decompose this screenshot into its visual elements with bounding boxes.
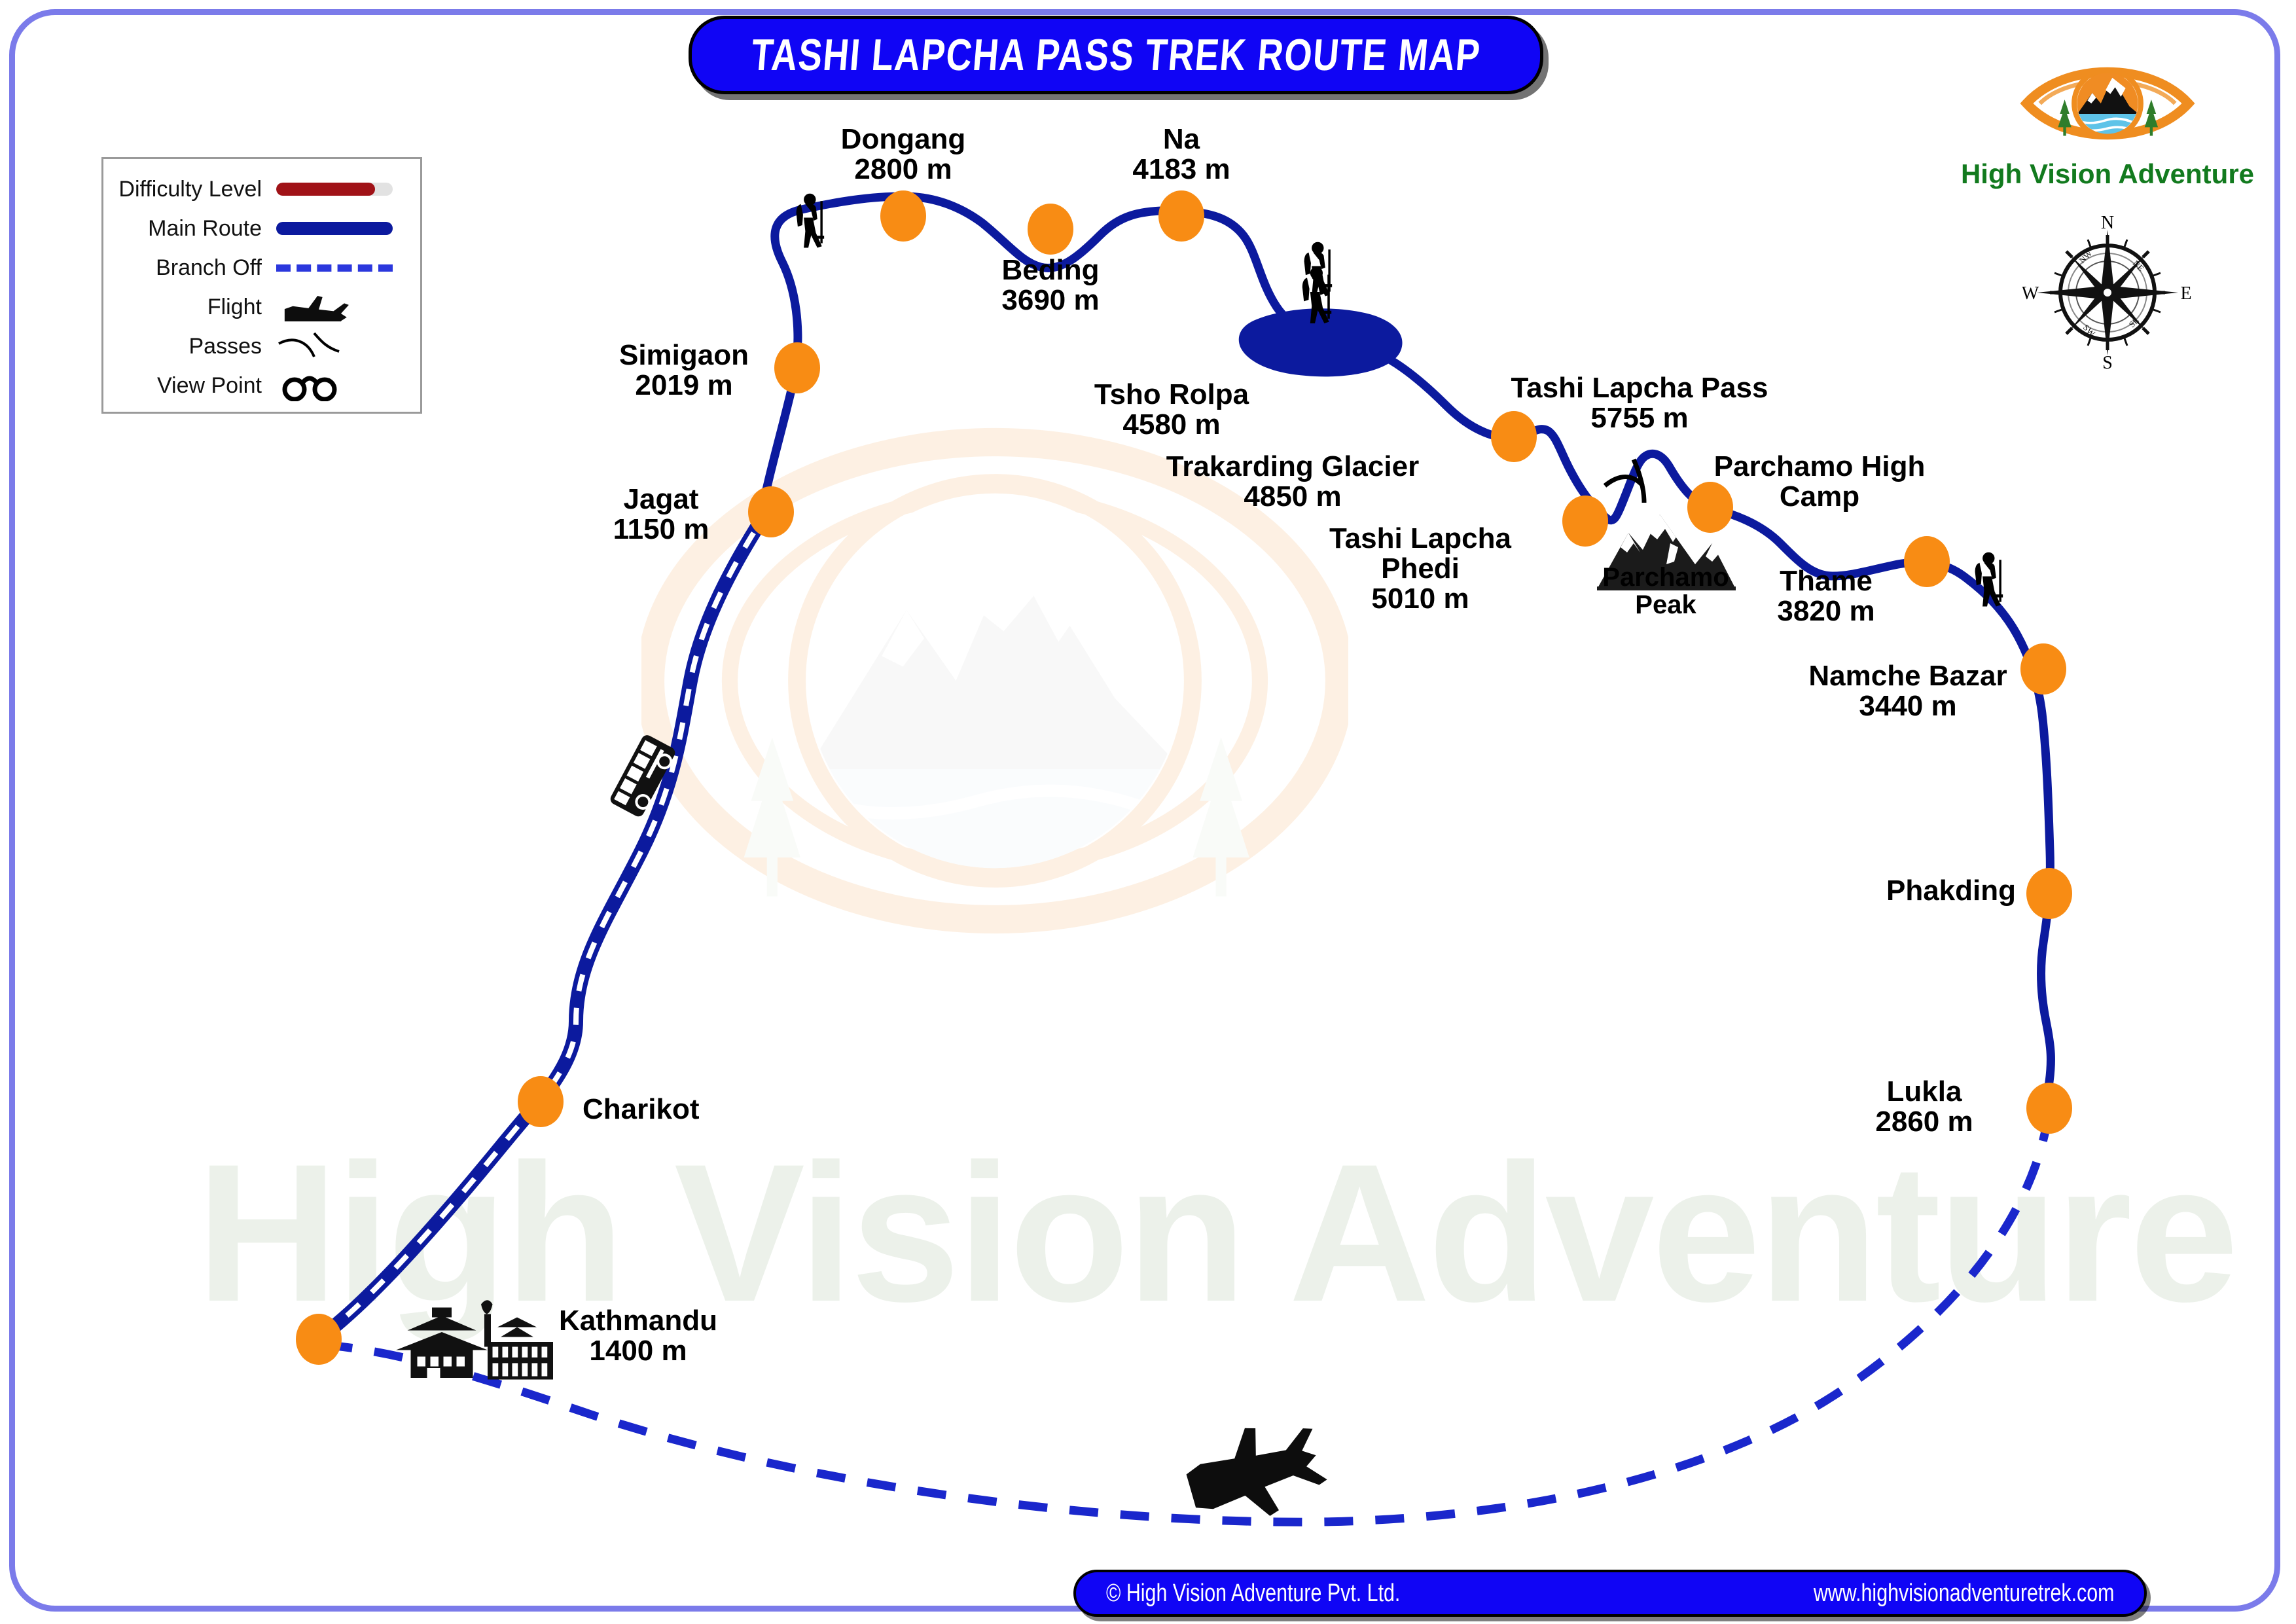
label-na: Na 4183 m bbox=[1073, 124, 1289, 185]
legend-item-flight: Flight bbox=[111, 287, 404, 327]
legend-item-view-point: View Point bbox=[111, 366, 404, 405]
node-lukla bbox=[2026, 1083, 2072, 1134]
road-route-kathmandu-jagat bbox=[321, 524, 759, 1337]
temple-icon bbox=[396, 1300, 553, 1379]
airplane-icon bbox=[276, 292, 404, 322]
label-lukla: Lukla 2860 m bbox=[1833, 1077, 2016, 1137]
legend-label: View Point bbox=[157, 373, 262, 399]
label-phakding: Phakding bbox=[1728, 876, 2016, 906]
label-tsho-rolpa: Tsho Rolpa 4580 m bbox=[1047, 380, 1296, 440]
eye-mountain-logo-icon bbox=[2009, 51, 2206, 156]
label-tashi-lapcha-pass: Tashi Lapcha Pass 5755 m bbox=[1486, 373, 1793, 433]
node-phedi bbox=[1562, 496, 1608, 547]
node-charikot bbox=[518, 1076, 564, 1127]
legend-label: Main Route bbox=[148, 216, 262, 242]
brand-logo-block: High Vision Adventure bbox=[1970, 51, 2245, 195]
label-trakarding-glacier: Trakarding Glacier 4850 m bbox=[1129, 452, 1456, 512]
node-jagat bbox=[748, 486, 794, 537]
route-node-group bbox=[296, 190, 2072, 1365]
compass-west-label: W bbox=[2022, 283, 2039, 304]
page-title: TASHI LAPCHA PASS TREK ROUTE MAP bbox=[749, 29, 1483, 81]
node-beding bbox=[1028, 204, 1073, 255]
difficulty-bar-icon bbox=[276, 174, 404, 204]
label-namche-bazar: Namche Bazar 3440 m bbox=[1767, 661, 2049, 721]
label-dongang: Dongang 2800 m bbox=[779, 124, 1028, 185]
compass-rose-icon: N S E W NW NE SW SE bbox=[2022, 213, 2193, 373]
compass-south-label: S bbox=[2102, 353, 2113, 373]
legend-label: Difficulty Level bbox=[118, 177, 262, 202]
legend-box: Difficulty Level Main Route Branch Off F… bbox=[101, 157, 422, 414]
label-kathmandu: Kathmandu 1400 m bbox=[530, 1306, 746, 1366]
label-tashi-lapcha-phedi: Tashi Lapcha Phedi 5010 m bbox=[1296, 524, 1545, 613]
tsho-rolpa-lake-shape bbox=[1239, 308, 1403, 376]
airplane-icon bbox=[1179, 1410, 1333, 1534]
node-kathmandu bbox=[296, 1314, 342, 1365]
dashed-line-icon bbox=[276, 253, 404, 283]
map-title-banner: TASHI LAPCHA PASS TREK ROUTE MAP bbox=[689, 16, 1543, 94]
legend-item-main-route: Main Route bbox=[111, 209, 404, 248]
legend-item-difficulty-level: Difficulty Level bbox=[111, 170, 404, 209]
label-beding: Beding 3690 m bbox=[939, 255, 1162, 316]
label-parchamo-high-camp: Parchamo High Camp bbox=[1676, 452, 1964, 512]
label-charikot: Charikot bbox=[583, 1094, 805, 1125]
compass-east-label: E bbox=[2180, 283, 2191, 304]
binoculars-icon bbox=[276, 370, 404, 401]
website-link[interactable]: www.highvisionadventuretrek.com bbox=[1813, 1579, 2114, 1608]
footer-banner: © High Vision Adventure Pvt. Ltd. www.hi… bbox=[1073, 1570, 2147, 1617]
solid-line-icon bbox=[276, 213, 404, 244]
compass-northwest-label: NW bbox=[2077, 248, 2094, 265]
passes-icon bbox=[276, 331, 404, 361]
legend-label: Branch Off bbox=[156, 255, 262, 281]
label-thame: Thame 3820 m bbox=[1715, 566, 1937, 626]
label-jagat: Jagat 1150 m bbox=[576, 484, 746, 545]
legend-label: Flight bbox=[207, 295, 262, 320]
copyright-text: © High Vision Adventure Pvt. Ltd. bbox=[1106, 1579, 1400, 1608]
legend-label: Passes bbox=[189, 334, 262, 359]
node-na bbox=[1158, 190, 1204, 242]
node-dongang bbox=[880, 190, 926, 242]
legend-item-branch-off: Branch Off bbox=[111, 248, 404, 287]
node-phakding bbox=[2026, 868, 2072, 919]
legend-item-passes: Passes bbox=[111, 327, 404, 366]
label-simigaon: Simigaon 2019 m bbox=[576, 340, 792, 401]
brand-name: High Vision Adventure bbox=[1961, 158, 2254, 190]
main-trek-route bbox=[759, 196, 2051, 1087]
